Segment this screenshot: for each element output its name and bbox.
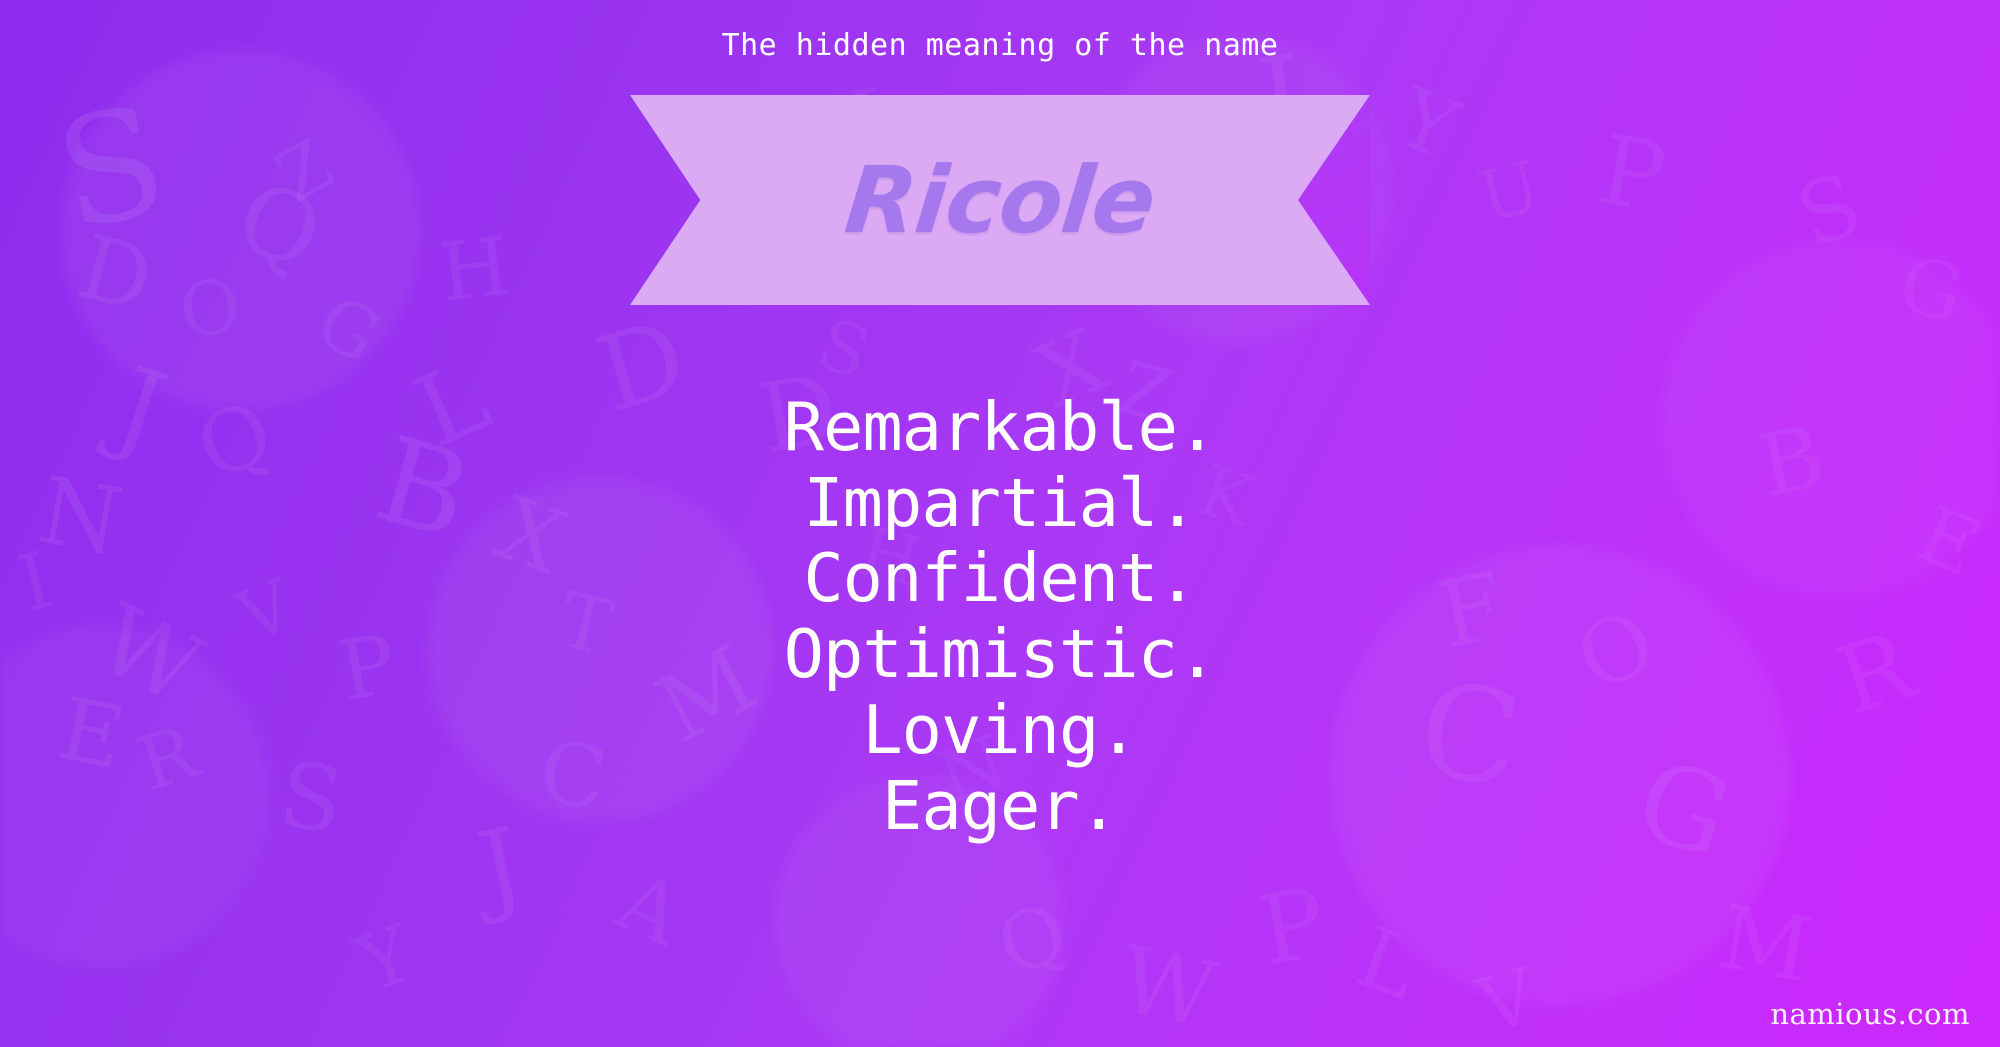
decor-letter: Y <box>348 915 423 1006</box>
decor-letter: Q <box>987 891 1078 990</box>
traits-list: Remarkable.Impartial.Confident.Optimisti… <box>0 390 2000 844</box>
decor-letter: G <box>1891 245 1970 336</box>
decor-letter: A <box>606 861 693 960</box>
decor-letter: G <box>306 284 392 375</box>
decor-letter: O <box>175 268 245 350</box>
name-text: Ricole <box>840 147 1159 254</box>
page-title: The hidden meaning of the name <box>0 28 2000 63</box>
trait-line: Eager. <box>0 769 2000 845</box>
decor-letter: U <box>1472 151 1546 233</box>
decor-letter: D <box>70 223 161 326</box>
site-watermark: namious.com <box>1770 997 1970 1031</box>
name-meaning-card: SQZDOJQNIWVERSPBLGHXDTMCJAYFKUDSXZLYUPSG… <box>0 0 2000 1047</box>
decor-letter: P <box>1252 875 1332 981</box>
trait-line: Impartial. <box>0 466 2000 542</box>
decor-letter: Y <box>1387 77 1468 173</box>
trait-line: Optimistic. <box>0 617 2000 693</box>
decor-letter: M <box>1713 893 1817 995</box>
decor-letter: V <box>1471 957 1545 1045</box>
trait-line: Remarkable. <box>0 390 2000 466</box>
trait-line: Confident. <box>0 541 2000 617</box>
name-ribbon-banner: Ricole <box>630 95 1370 305</box>
decor-letter: S <box>809 308 878 390</box>
decor-letter: Z <box>266 129 343 214</box>
decor-letter: Q <box>225 167 334 285</box>
decor-letter: L <box>1347 914 1428 1012</box>
decor-letter: S <box>46 85 178 253</box>
trait-line: Loving. <box>0 693 2000 769</box>
decor-letter: H <box>436 227 514 314</box>
decor-letter: P <box>1592 121 1672 227</box>
decor-letter: W <box>1111 933 1223 1043</box>
decor-letter: S <box>1787 160 1872 261</box>
